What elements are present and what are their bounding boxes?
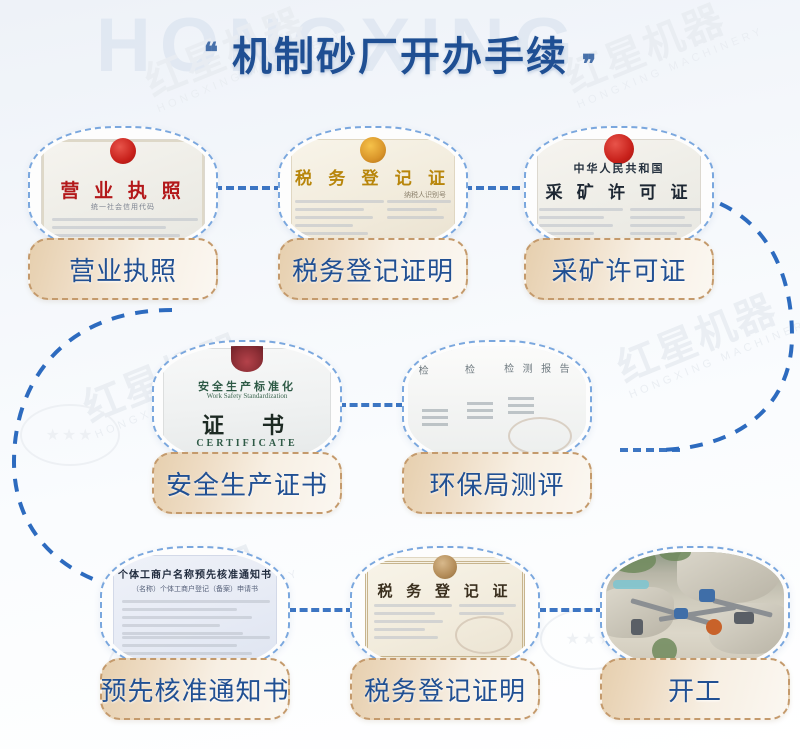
- doc-title: 税 务 登 记 证: [284, 164, 462, 189]
- page-title: 机制砂厂开办手续: [232, 24, 568, 82]
- connector-step4-step5: [338, 403, 404, 407]
- mining-license-artwork: 中华人民共和国 采 矿 许 可 证: [530, 132, 708, 248]
- step-card-6[interactable]: 个体工商户名称预先核准通知书 （名称）个体工商户登记（备案）申请书 预先核准通知…: [100, 546, 290, 716]
- step-card-7[interactable]: 税 务 登 记 证 税务登记证明: [350, 546, 540, 716]
- doc-title: 证 书: [158, 408, 336, 440]
- doc-subtitle: 中华人民共和国: [530, 160, 708, 176]
- step-6-label-text: 预先核准通知书: [101, 671, 290, 708]
- step-4-label[interactable]: 安全生产证书: [152, 452, 342, 514]
- step-2-label-text: 税务登记证明: [292, 251, 454, 288]
- step-7-label[interactable]: 税务登记证明: [350, 658, 540, 720]
- doc-subtitle: 纳税人识别号: [404, 190, 446, 200]
- step-card-1[interactable]: 营 业 执 照 统一社会信用代码 营业执照: [28, 126, 218, 296]
- step-6-label[interactable]: 预先核准通知书: [100, 658, 290, 720]
- step-4-label-text: 安全生产证书: [166, 465, 328, 502]
- watermark-brand-en: HONGXING MACHINERY: [628, 316, 800, 401]
- step-1-image: 营 业 执 照 统一社会信用代码: [28, 126, 218, 254]
- doc-subtitle: 统一社会信用代码: [34, 202, 212, 212]
- doc-subtitle: CERTIFICATE: [158, 438, 336, 449]
- connector-step1-step2: [214, 186, 282, 190]
- step-3-label[interactable]: 采矿许可证: [524, 238, 714, 300]
- inspection-report-photo-artwork: 检 测 报 告 检 检: [408, 346, 586, 462]
- step-8-label[interactable]: 开工: [600, 658, 790, 720]
- step-card-4[interactable]: 安全生产标准化 Work Safety Standardization 证 书 …: [152, 340, 342, 510]
- flowchart-stage: HONGXING 红星机器 HONGXING MACHINERY 红星机器 HO…: [0, 0, 800, 749]
- tax-registration-artwork-2: 税 务 登 记 证: [356, 552, 534, 668]
- doc-title: 个体工商户名称预先核准通知书: [106, 566, 284, 581]
- connector-curve3-to-step4: [620, 448, 680, 452]
- quote-open-icon: ❝: [204, 40, 218, 66]
- step-7-image: 税 务 登 记 证: [350, 546, 540, 674]
- step-6-image: 个体工商户名称预先核准通知书 （名称）个体工商户登记（备案）申请书: [100, 546, 290, 674]
- connector-step7-step8: [538, 608, 604, 612]
- watermark-seal-left: ★★★: [20, 404, 120, 466]
- page-title-group: ❝ 机制砂厂开办手续 ❞: [0, 24, 800, 82]
- doc-head-en: Work Safety Standardization: [158, 392, 336, 400]
- step-5-label-text: 环保局测评: [429, 465, 564, 502]
- step-2-label[interactable]: 税务登记证明: [278, 238, 468, 300]
- quote-close-icon: ❞: [582, 52, 596, 78]
- doc-title: 营 业 执 照: [34, 176, 212, 203]
- step-7-label-text: 税务登记证明: [364, 671, 526, 708]
- step-card-3[interactable]: 中华人民共和国 采 矿 许 可 证 采矿许可证: [524, 126, 714, 296]
- step-card-8[interactable]: 开工: [600, 546, 790, 716]
- step-1-label-text: 营业执照: [69, 251, 177, 288]
- step-2-image: 税 务 登 记 证 纳税人识别号: [278, 126, 468, 254]
- step-5-image: 检 测 报 告 检 检: [402, 340, 592, 468]
- step-1-label[interactable]: 营业执照: [28, 238, 218, 300]
- doc-title: 税 务 登 记 证: [356, 580, 534, 601]
- step-4-image: 安全生产标准化 Work Safety Standardization 证 书 …: [152, 340, 342, 468]
- step-3-image: 中华人民共和国 采 矿 许 可 证: [524, 126, 714, 254]
- step-3-label-text: 采矿许可证: [551, 251, 686, 288]
- step-8-label-text: 开工: [668, 671, 722, 708]
- tax-registration-artwork: 税 务 登 记 证 纳税人识别号: [284, 132, 462, 248]
- business-license-artwork: 营 业 执 照 统一社会信用代码: [34, 132, 212, 248]
- doc-title: 采 矿 许 可 证: [530, 178, 708, 203]
- safety-certificate-artwork: 安全生产标准化 Work Safety Standardization 证 书 …: [158, 346, 336, 462]
- step-card-5[interactable]: 检 测 报 告 检 检 环保局测评: [402, 340, 592, 510]
- report-title: 检 测 报 告: [504, 360, 573, 375]
- step-card-2[interactable]: 税 务 登 记 证 纳税人识别号 税务登记证明: [278, 126, 468, 296]
- step-8-image: [600, 546, 790, 674]
- connector-step2-step3: [464, 186, 532, 190]
- preapproval-notice-artwork: 个体工商户名称预先核准通知书 （名称）个体工商户登记（备案）申请书: [106, 552, 284, 668]
- quarry-plant-artwork: [606, 552, 784, 668]
- step-5-label[interactable]: 环保局测评: [402, 452, 592, 514]
- connector-step6-step7: [288, 608, 354, 612]
